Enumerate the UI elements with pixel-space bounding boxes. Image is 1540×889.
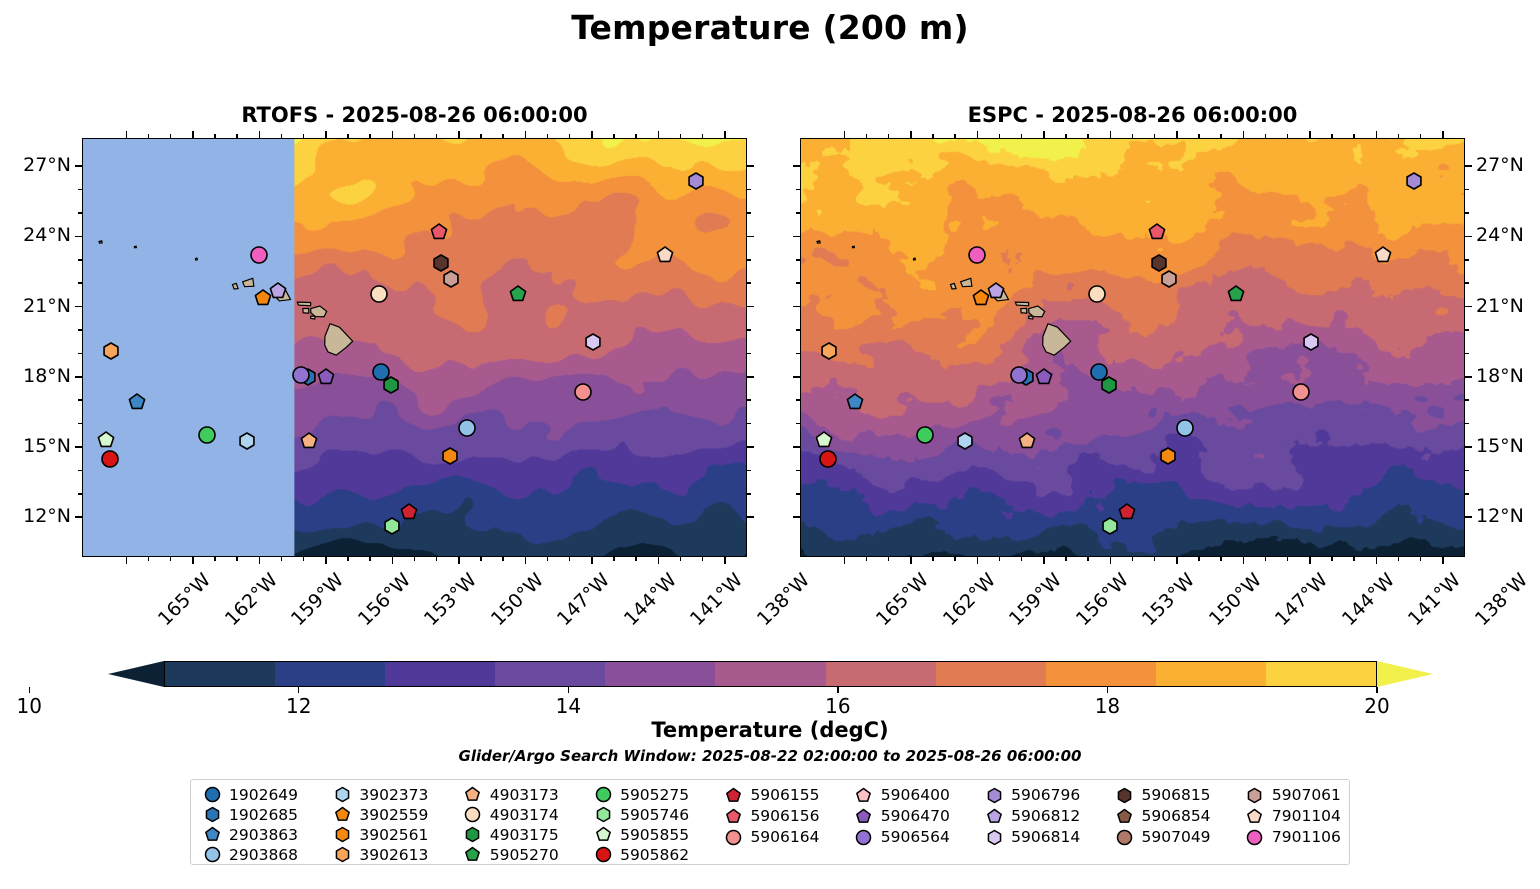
xtick-minor [436, 134, 438, 138]
legend-item-5905746[interactable]: 5905746 [590, 805, 689, 824]
float-marker-3902373[interactable] [236, 430, 257, 451]
ytick-minor [796, 493, 800, 495]
ytick-minor [796, 329, 800, 331]
legend-marker-pentagon-icon [1112, 807, 1138, 826]
float-legend: 1902649190268529038632903868390237339025… [190, 779, 1350, 865]
float-marker-4903175[interactable] [381, 374, 402, 395]
xtick [1309, 131, 1311, 138]
ytick-minor [796, 353, 800, 355]
xtick-minor [932, 134, 934, 138]
legend-marker-circle-icon [590, 845, 616, 864]
xtick-minor [170, 134, 172, 138]
legend-marker-hexagon-icon [329, 845, 355, 864]
xtick [525, 131, 527, 138]
ytick-label-right: 12°N [1476, 505, 1524, 527]
xtick [1176, 557, 1178, 564]
xtick-minor [369, 134, 371, 138]
xtick-label: 150°W [1205, 569, 1266, 630]
xtick-minor [1353, 134, 1355, 138]
xtick [325, 131, 327, 138]
legend-label: 5906164 [746, 828, 819, 846]
float-marker-5907061[interactable] [1158, 269, 1179, 290]
colorbar-extend-min [108, 661, 164, 687]
float-marker-3902561[interactable] [1157, 446, 1178, 467]
xtick-label: 159°W [287, 569, 348, 630]
xtick [325, 557, 327, 564]
xtick [458, 557, 460, 564]
float-marker-5905270[interactable] [507, 283, 528, 304]
ytick [1465, 516, 1472, 518]
island-molokai [1015, 302, 1028, 306]
legend-item-5906815[interactable]: 5906815 [1112, 785, 1211, 805]
legend-label: 3902373 [355, 786, 428, 804]
float-marker-5906164[interactable] [572, 381, 593, 402]
legend-item-5905275[interactable]: 5905275 [590, 785, 689, 804]
legend-column-6: 590640059064705906564 [851, 785, 950, 860]
legend-item-5906796[interactable]: 5906796 [981, 785, 1080, 805]
float-marker-4903173[interactable] [1017, 430, 1038, 451]
xtick-label: 153°W [1138, 569, 1199, 630]
legend-label: 5905746 [616, 806, 689, 824]
legend-item-5906470[interactable]: 5906470 [851, 806, 950, 826]
legend-item-5907061[interactable]: 5907061 [1242, 785, 1341, 805]
float-marker-4903175[interactable] [1099, 374, 1120, 395]
colorbar-tick-label: 12 [286, 694, 311, 718]
ytick-minor [78, 470, 82, 472]
ytick [75, 165, 82, 167]
xtick-minor [547, 557, 549, 561]
legend-item-5906156[interactable]: 5906156 [720, 806, 819, 826]
xtick-minor [1220, 557, 1222, 561]
legend-label: 5906815 [1138, 786, 1211, 804]
ytick-label-left: 15°N [23, 435, 71, 457]
xtick [259, 557, 261, 564]
legend-label: 4903175 [486, 826, 559, 844]
island-molokai [297, 302, 310, 306]
legend-label: 4903174 [486, 806, 559, 824]
ytick-minor [78, 423, 82, 425]
xtick-minor [214, 557, 216, 561]
colorbar-segment [165, 662, 275, 686]
legend-label: 5907061 [1268, 786, 1341, 804]
ytick [747, 236, 754, 238]
legend-marker-circle-icon [1112, 828, 1138, 847]
island-kauai [243, 278, 254, 286]
legend-marker-circle-icon [460, 805, 486, 824]
ytick-minor [747, 493, 751, 495]
float-marker-2903863[interactable] [845, 392, 866, 413]
xtick [1043, 557, 1045, 564]
xtick-minor [547, 134, 549, 138]
float-marker-5905275[interactable] [197, 425, 218, 446]
float-marker-2903868[interactable] [456, 418, 477, 439]
legend-column-1: 1902649190268529038632903868 [199, 785, 298, 860]
ytick-minor [1465, 212, 1469, 214]
float-marker-5906814[interactable] [1300, 331, 1321, 352]
float-marker-7901104[interactable] [654, 244, 675, 265]
float-marker-5906470[interactable] [315, 366, 336, 387]
island-necker [852, 246, 854, 248]
ytick-minor [747, 189, 751, 191]
ytick-minor [78, 259, 82, 261]
xtick-minor [236, 557, 238, 561]
ytick-minor [78, 493, 82, 495]
xtick [1243, 131, 1245, 138]
xtick-minor [347, 134, 349, 138]
float-marker-5907061[interactable] [440, 269, 461, 290]
legend-item-1902649[interactable]: 1902649 [199, 785, 298, 804]
xtick-minor [680, 557, 682, 561]
figure-suptitle: Temperature (200 m) [0, 8, 1540, 47]
ytick-minor [78, 212, 82, 214]
xtick-minor [1420, 557, 1422, 561]
xtick [910, 557, 912, 564]
float-marker-5906564[interactable] [1009, 365, 1030, 386]
legend-label: 2903868 [225, 846, 298, 864]
xtick-label: 144°W [620, 569, 681, 630]
legend-marker-circle-icon [1242, 828, 1268, 847]
xtick [1376, 557, 1378, 564]
xtick-label: 147°W [553, 569, 614, 630]
ytick [747, 516, 754, 518]
float-marker-7901104[interactable] [1372, 244, 1393, 265]
ytick [793, 165, 800, 167]
xtick-label: 150°W [487, 569, 548, 630]
ytick [747, 376, 754, 378]
float-marker-4903174[interactable] [368, 283, 389, 304]
legend-marker-pentagon-icon [199, 825, 225, 844]
legend-label: 5905270 [486, 846, 559, 864]
xtick-minor [1087, 134, 1089, 138]
colorbar-tick [568, 687, 569, 693]
xtick [724, 131, 726, 138]
colorbar-gradient [164, 661, 1377, 687]
island-niihau [950, 283, 956, 289]
float-marker-2903868[interactable] [1174, 418, 1195, 439]
xtick [910, 131, 912, 138]
xtick [977, 131, 979, 138]
xtick-minor [303, 557, 305, 561]
ytick-minor [796, 282, 800, 284]
ytick-minor [747, 399, 751, 401]
xtick-minor [613, 134, 615, 138]
float-marker-7901106[interactable] [249, 244, 270, 265]
legend-marker-hexagon-icon [981, 828, 1007, 847]
xtick-minor [347, 557, 349, 561]
legend-marker-pentagon-icon [1242, 807, 1268, 826]
float-marker-5905270[interactable] [1225, 283, 1246, 304]
legend-item-2903868[interactable]: 2903868 [199, 845, 298, 864]
legend-marker-pentagon-icon [590, 825, 616, 844]
legend-label: 7901104 [1268, 807, 1341, 825]
island-hawaii [1043, 324, 1071, 355]
legend-label: 5906470 [877, 807, 950, 825]
ytick-label-left: 27°N [23, 154, 71, 176]
ytick-minor [78, 399, 82, 401]
xtick-minor [635, 557, 637, 561]
float-marker-5906796[interactable] [1403, 171, 1424, 192]
ytick [1465, 446, 1472, 448]
xtick-minor [502, 557, 504, 561]
legend-item-3902561[interactable]: 3902561 [329, 825, 428, 844]
xtick-label: 165°W [154, 569, 215, 630]
ytick-minor [78, 189, 82, 191]
xtick [126, 131, 128, 138]
legend-label: 5906155 [746, 786, 819, 804]
colorbar-segment [275, 662, 385, 686]
legend-item-5906564[interactable]: 5906564 [851, 827, 950, 847]
ytick-label-left: 12°N [23, 505, 71, 527]
colorbar-segment [936, 662, 1046, 686]
float-marker-5906164[interactable] [1290, 381, 1311, 402]
xtick-minor [1287, 557, 1289, 561]
legend-item-3902559[interactable]: 3902559 [329, 805, 428, 824]
float-marker-5905275[interactable] [915, 425, 936, 446]
xtick [1442, 131, 1444, 138]
ytick-minor [796, 423, 800, 425]
ytick-label-right: 18°N [1476, 365, 1524, 387]
coastline-espc [801, 139, 1464, 556]
legend-column-9: 590706179011047901106 [1242, 785, 1341, 860]
xtick [1043, 131, 1045, 138]
legend-item-4903175[interactable]: 4903175 [460, 825, 559, 844]
float-marker-5906796[interactable] [685, 171, 706, 192]
legend-marker-hexagon-icon [199, 805, 225, 824]
xtick-label: 141°W [686, 569, 747, 630]
legend-label: 5906812 [1007, 807, 1080, 825]
legend-item-2903863[interactable]: 2903863 [199, 825, 298, 844]
xtick [844, 557, 846, 564]
xtick-minor [680, 134, 682, 138]
legend-label: 5906564 [877, 828, 950, 846]
island-frigate [99, 241, 102, 243]
xtick-minor [1398, 134, 1400, 138]
colorbar-tick [837, 687, 838, 693]
xtick-minor [1265, 557, 1267, 561]
legend-label: 7901106 [1268, 828, 1341, 846]
xtick-minor [1021, 557, 1023, 561]
colorbar-tick-label: 18 [1095, 694, 1120, 718]
xtick-minor [1420, 134, 1422, 138]
legend-marker-hexagon-icon [981, 786, 1007, 805]
xtick [126, 557, 128, 564]
xtick-label: 156°W [1072, 569, 1133, 630]
ytick-minor [1465, 399, 1469, 401]
xtick-minor [1287, 134, 1289, 138]
legend-marker-hexagon-icon [590, 805, 616, 824]
legend-marker-circle-icon [720, 828, 746, 847]
legend-label: 3902559 [355, 806, 428, 824]
ytick-minor [747, 282, 751, 284]
xtick [658, 131, 660, 138]
xtick-minor [1265, 134, 1267, 138]
colorbar-tick-label: 16 [825, 694, 850, 718]
xtick [392, 131, 394, 138]
xtick-minor [866, 134, 868, 138]
xtick-minor [369, 557, 371, 561]
xtick [977, 557, 979, 564]
ytick-minor [747, 259, 751, 261]
ytick-minor [796, 212, 800, 214]
xtick [259, 131, 261, 138]
legend-marker-circle-icon [199, 845, 225, 864]
ytick-label-left: 21°N [23, 295, 71, 317]
legend-item-5905855[interactable]: 5905855 [590, 825, 689, 844]
legend-item-5906812[interactable]: 5906812 [981, 806, 1080, 826]
xtick-minor [932, 557, 934, 561]
legend-item-5906155[interactable]: 5906155 [720, 785, 819, 805]
xtick-minor [888, 134, 890, 138]
legend-item-4903174[interactable]: 4903174 [460, 805, 559, 824]
legend-label: 5905855 [616, 826, 689, 844]
xtick-minor [1331, 557, 1333, 561]
xtick-label: 159°W [1005, 569, 1066, 630]
xtick-minor [148, 557, 150, 561]
legend-item-5906814[interactable]: 5906814 [981, 827, 1080, 847]
legend-marker-pentagon-icon [720, 786, 746, 805]
xtick-minor [1154, 557, 1156, 561]
xtick-minor [1132, 134, 1134, 138]
float-marker-3902613[interactable] [100, 340, 121, 361]
float-marker-5905746[interactable] [382, 516, 403, 537]
map-axes-espc[interactable] [800, 138, 1465, 557]
float-marker-5906564[interactable] [291, 365, 312, 386]
legend-item-7901106[interactable]: 7901106 [1242, 827, 1341, 847]
float-marker-4903173[interactable] [299, 430, 320, 451]
xtick-minor [480, 134, 482, 138]
legend-marker-pentagon-icon [460, 845, 486, 864]
legend-item-1902685[interactable]: 1902685 [199, 805, 298, 824]
xtick-minor [613, 557, 615, 561]
legend-item-3902373[interactable]: 3902373 [329, 785, 428, 804]
island-niihau [232, 283, 238, 289]
ytick-minor [1465, 470, 1469, 472]
xtick-minor [1331, 134, 1333, 138]
xtick-minor [236, 134, 238, 138]
legend-item-5905270[interactable]: 5905270 [460, 845, 559, 864]
ytick-minor [1465, 329, 1469, 331]
xtick-label: 141°W [1404, 569, 1465, 630]
legend-label: 5906156 [746, 807, 819, 825]
xtick [591, 131, 593, 138]
legend-item-5906164[interactable]: 5906164 [720, 827, 819, 847]
colorbar-extend-max [1377, 661, 1433, 687]
legend-label: 5907049 [1138, 828, 1211, 846]
float-marker-3902613[interactable] [818, 340, 839, 361]
ytick-minor [1465, 423, 1469, 425]
ytick-minor [1465, 189, 1469, 191]
ytick-minor [747, 329, 751, 331]
xtick [392, 557, 394, 564]
legend-marker-pentagon-icon [460, 785, 486, 804]
float-marker-5906470[interactable] [1033, 366, 1054, 387]
legend-item-5907049[interactable]: 5907049 [1112, 827, 1211, 847]
ytick [1465, 376, 1472, 378]
float-marker-5906812[interactable] [986, 281, 1007, 302]
colorbar-tick-label: 10 [17, 694, 42, 718]
legend-marker-pentagon-icon [329, 805, 355, 824]
xtick-minor [436, 557, 438, 561]
xtick-minor [1154, 134, 1156, 138]
colorbar-segment [1266, 662, 1376, 686]
legend-label: 1902685 [225, 806, 298, 824]
colorbar-tick [1376, 687, 1377, 693]
float-marker-7901106[interactable] [967, 244, 988, 265]
float-marker-5906814[interactable] [582, 331, 603, 352]
xtick-label: 165°W [872, 569, 933, 630]
colorbar: 101214161820 [108, 661, 1433, 687]
float-marker-5905746[interactable] [1100, 516, 1121, 537]
ytick [75, 306, 82, 308]
legend-column-5: 590615559061565906164 [720, 785, 819, 860]
ytick [747, 306, 754, 308]
legend-marker-hexagon-icon [1112, 786, 1138, 805]
legend-label: 5905862 [616, 846, 689, 864]
colorbar-segment [385, 662, 495, 686]
legend-item-5905862[interactable]: 5905862 [590, 845, 689, 864]
legend-marker-hexagon-icon [329, 785, 355, 804]
float-marker-5906812[interactable] [268, 281, 289, 302]
ytick [75, 446, 82, 448]
legend-marker-pentagon-icon [851, 786, 877, 805]
legend-item-7901104[interactable]: 7901104 [1242, 806, 1341, 826]
xtick-minor [569, 134, 571, 138]
xtick [1309, 557, 1311, 564]
ytick [75, 376, 82, 378]
legend-column-3: 4903173490317449031755905270 [460, 785, 559, 860]
legend-label: 3902561 [355, 826, 428, 844]
island-frigate [817, 241, 820, 243]
legend-label: 5905275 [616, 786, 689, 804]
float-marker-2903863[interactable] [127, 392, 148, 413]
legend-label: 1902649 [225, 786, 298, 804]
legend-item-5906854[interactable]: 5906854 [1112, 806, 1211, 826]
xtick-minor [1353, 557, 1355, 561]
ytick-minor [747, 353, 751, 355]
ytick-minor [78, 353, 82, 355]
map-axes-rtofs[interactable] [82, 138, 747, 557]
xtick [591, 557, 593, 564]
xtick-label: 162°W [221, 569, 282, 630]
island-kahoolawe [311, 316, 316, 319]
xtick-minor [414, 134, 416, 138]
float-marker-4903174[interactable] [1086, 283, 1107, 304]
ytick-minor [747, 423, 751, 425]
float-marker-3902561[interactable] [439, 446, 460, 467]
float-marker-3902373[interactable] [954, 430, 975, 451]
xtick [1243, 557, 1245, 564]
island-hawaii [325, 324, 353, 355]
coastline-rtofs [83, 139, 746, 556]
float-marker-5905862[interactable] [817, 448, 838, 469]
float-marker-5905862[interactable] [99, 448, 120, 469]
xtick-label: 153°W [420, 569, 481, 630]
xtick-minor [1132, 557, 1134, 561]
colorbar-segment [1046, 662, 1156, 686]
legend-item-5906400[interactable]: 5906400 [851, 785, 950, 805]
ytick-minor [78, 282, 82, 284]
legend-marker-circle-icon [199, 785, 225, 804]
float-marker-5906156[interactable] [428, 221, 449, 242]
xtick-label: 138°W [1471, 569, 1532, 630]
legend-item-4903173[interactable]: 4903173 [460, 785, 559, 804]
legend-marker-circle-icon [851, 828, 877, 847]
colorbar-tick [298, 687, 299, 693]
ytick [793, 306, 800, 308]
xtick-minor [281, 134, 283, 138]
float-marker-5906156[interactable] [1146, 221, 1167, 242]
legend-item-3902613[interactable]: 3902613 [329, 845, 428, 864]
